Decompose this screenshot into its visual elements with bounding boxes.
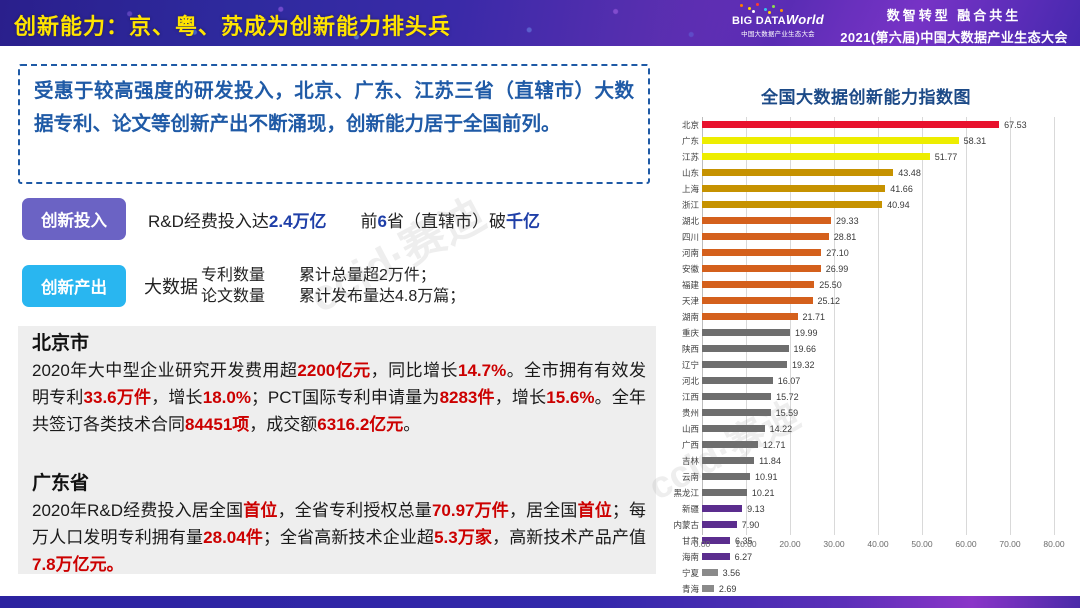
chart-bar bbox=[702, 377, 773, 384]
chart-bar-row: 重庆19.99 bbox=[666, 325, 1054, 341]
chart-x-axis-ticks: 0.0010.0020.0030.0040.0050.0060.0070.008… bbox=[702, 535, 1054, 557]
chart-bar-rows: 北京67.53广东58.31江苏51.77山东43.48上海41.66浙江40.… bbox=[666, 117, 1054, 535]
beijing-body: 2020年大中型企业研究开发费用超2200亿元，同比增长14.7%。全市拥有有效… bbox=[32, 357, 646, 438]
chart-bar bbox=[702, 169, 893, 176]
chart-bar-row: 广东58.31 bbox=[666, 133, 1054, 149]
chart-bar-row: 湖北29.33 bbox=[666, 213, 1054, 229]
badge-innovation-investment: 创新投入 bbox=[22, 198, 126, 240]
chart-bar bbox=[702, 297, 813, 304]
chart-bar bbox=[702, 441, 758, 448]
chart-bar-track: 29.33 bbox=[702, 213, 1054, 229]
chart-bar-value: 3.56 bbox=[723, 566, 741, 580]
callout-box: 受惠于较高强度的研发投入，北京、广东、江苏三省（直辖市）大数据专利、论文等创新产… bbox=[18, 64, 650, 184]
chart-category-label: 新疆 bbox=[666, 501, 702, 517]
chart-category-label: 内蒙古 bbox=[666, 517, 702, 533]
chart-bar-row: 江西15.72 bbox=[666, 389, 1054, 405]
conference-branding: 数智转型 融合共生 2021(第六届)中国大数据产业生态大会 bbox=[836, 5, 1072, 46]
chart-bar-row: 天津25.12 bbox=[666, 293, 1054, 309]
chart-bar bbox=[702, 265, 821, 272]
chart-bar-row: 山西14.22 bbox=[666, 421, 1054, 437]
chart-bar-track: 15.72 bbox=[702, 389, 1054, 405]
chart-bar bbox=[702, 569, 718, 576]
chart-bar-track: 67.53 bbox=[702, 117, 1054, 133]
chart-bar-value: 7.90 bbox=[742, 518, 760, 532]
chart-bar bbox=[702, 217, 831, 224]
chart-bar-track: 21.71 bbox=[702, 309, 1054, 325]
chart-x-tick-label: 70.00 bbox=[999, 539, 1020, 549]
chart-bar-track: 51.77 bbox=[702, 149, 1054, 165]
innovation-output-row: 创新产出 大数据 专利数量 论文数量 累计总量超2万件； 累计发布量达4.8万篇… bbox=[22, 265, 652, 307]
chart-bar bbox=[702, 281, 814, 288]
chart-bar-track: 25.50 bbox=[702, 277, 1054, 293]
chart-bar-track: 19.32 bbox=[702, 357, 1054, 373]
chart-bar bbox=[702, 121, 999, 128]
chart-bar bbox=[702, 393, 771, 400]
chart-category-label: 北京 bbox=[666, 117, 702, 133]
chart-category-label: 河北 bbox=[666, 373, 702, 389]
chart-bar bbox=[702, 185, 885, 192]
chart-bar-track: 15.59 bbox=[702, 405, 1054, 421]
chart-bar-track: 25.12 bbox=[702, 293, 1054, 309]
beijing-info-box: 北京市 2020年大中型企业研究开发费用超2200亿元，同比增长14.7%。全市… bbox=[18, 326, 656, 466]
chart-bar bbox=[702, 457, 754, 464]
paper-count-label: 论文数量 bbox=[201, 286, 265, 307]
chart-category-label: 山西 bbox=[666, 421, 702, 437]
bigdata-world-logo: BIG DATAWorld 中国大数据产业生态大会 bbox=[722, 3, 834, 38]
chart-x-tick-label: 50.00 bbox=[911, 539, 932, 549]
chart-bar-track: 11.84 bbox=[702, 453, 1054, 469]
chart-bar-row: 陕西19.66 bbox=[666, 341, 1054, 357]
chart-bar-value: 14.22 bbox=[770, 422, 793, 436]
innovation-investment-row: 创新投入 R&D经费投入达2.4万亿前6省（直辖市）破千亿 bbox=[22, 198, 652, 240]
chart-bar-value: 25.12 bbox=[818, 294, 841, 308]
chart-panel: 全国大数据创新能力指数图 北京67.53广东58.31江苏51.77山东43.4… bbox=[660, 78, 1072, 576]
chart-bar-value: 19.66 bbox=[794, 342, 817, 356]
slide: 创新能力：京、粤、苏成为创新能力排头兵 BIG DATAWorld 中国大数据产… bbox=[0, 0, 1080, 608]
logo-subtitle: 中国大数据产业生态大会 bbox=[722, 28, 834, 38]
chart-bar-row: 山东43.48 bbox=[666, 165, 1054, 181]
chart-bar-track: 12.71 bbox=[702, 437, 1054, 453]
chart-gridline bbox=[1054, 117, 1055, 535]
chart-bar bbox=[702, 137, 959, 144]
chart-bar-value: 15.59 bbox=[776, 406, 799, 420]
chart-category-label: 河南 bbox=[666, 245, 702, 261]
chart-bar-track: 7.90 bbox=[702, 517, 1054, 533]
chart-bar-track: 3.56 bbox=[702, 565, 1054, 581]
conference-slogan: 数智转型 融合共生 bbox=[836, 5, 1072, 24]
chart-bar-track: 58.31 bbox=[702, 133, 1054, 149]
chart-bar bbox=[702, 233, 829, 240]
paper-count-value: 累计发布量达4.8万篇； bbox=[299, 286, 465, 307]
chart-bar bbox=[702, 313, 798, 320]
chart-bar-row: 北京67.53 bbox=[666, 117, 1054, 133]
chart-bar-value: 43.48 bbox=[898, 166, 921, 180]
chart-bar-value: 67.53 bbox=[1004, 118, 1027, 132]
chart-bar bbox=[702, 585, 714, 592]
chart-bar-track: 16.07 bbox=[702, 373, 1054, 389]
chart-category-label: 广西 bbox=[666, 437, 702, 453]
chart-bar bbox=[702, 329, 790, 336]
chart-bar-row: 上海41.66 bbox=[666, 181, 1054, 197]
chart-bar bbox=[702, 249, 821, 256]
chart-bar bbox=[702, 425, 765, 432]
chart-bar-value: 26.99 bbox=[826, 262, 849, 276]
chart-x-tick-label: 40.00 bbox=[867, 539, 888, 549]
chart-bar-track: 10.21 bbox=[702, 485, 1054, 501]
chart-bar-row: 青海2.69 bbox=[666, 581, 1054, 597]
chart-category-label: 海南 bbox=[666, 549, 702, 565]
chart-bar-value: 10.91 bbox=[755, 470, 778, 484]
chart-bar-row: 河北16.07 bbox=[666, 373, 1054, 389]
chart-bar-value: 15.72 bbox=[776, 390, 799, 404]
chart-bar-value: 9.13 bbox=[747, 502, 765, 516]
chart-bar bbox=[702, 153, 930, 160]
chart-x-tick-label: 80.00 bbox=[1043, 539, 1064, 549]
chart-bar-track: 28.81 bbox=[702, 229, 1054, 245]
chart-bar-track: 14.22 bbox=[702, 421, 1054, 437]
chart-category-label: 广东 bbox=[666, 133, 702, 149]
chart-bar-row: 安徽26.99 bbox=[666, 261, 1054, 277]
chart-bar-row: 四川28.81 bbox=[666, 229, 1054, 245]
chart-bar bbox=[702, 345, 789, 352]
chart-bar bbox=[702, 489, 747, 496]
chart-bar-track: 9.13 bbox=[702, 501, 1054, 517]
chart-bar-value: 28.81 bbox=[834, 230, 857, 244]
chart-category-label: 浙江 bbox=[666, 197, 702, 213]
chart-bar-track: 19.66 bbox=[702, 341, 1054, 357]
chart-category-label: 湖南 bbox=[666, 309, 702, 325]
chart-bar-row: 贵州15.59 bbox=[666, 405, 1054, 421]
bigdata-label: 大数据 bbox=[144, 273, 198, 299]
chart-category-label: 陕西 bbox=[666, 341, 702, 357]
chart-bar-track: 26.99 bbox=[702, 261, 1054, 277]
chart-bar-value: 12.71 bbox=[763, 438, 786, 452]
chart-bar bbox=[702, 361, 787, 368]
beijing-title: 北京市 bbox=[32, 331, 646, 357]
chart-bar-track: 10.91 bbox=[702, 469, 1054, 485]
chart-bar bbox=[702, 201, 882, 208]
chart-bar-row: 新疆9.13 bbox=[666, 501, 1054, 517]
chart-plot-area: 北京67.53广东58.31江苏51.77山东43.48上海41.66浙江40.… bbox=[666, 117, 1064, 557]
chart-bar-value: 25.50 bbox=[819, 278, 842, 292]
chart-bar-row: 福建25.50 bbox=[666, 277, 1054, 293]
chart-x-tick-label: 60.00 bbox=[955, 539, 976, 549]
chart-bar-track: 41.66 bbox=[702, 181, 1054, 197]
chart-category-label: 青海 bbox=[666, 581, 702, 597]
chart-bar-row: 浙江40.94 bbox=[666, 197, 1054, 213]
chart-bar-track: 27.10 bbox=[702, 245, 1054, 261]
chart-category-label: 江西 bbox=[666, 389, 702, 405]
chart-bar bbox=[702, 521, 737, 528]
logo-bigdata-text: BIG DATAWorld bbox=[722, 14, 834, 27]
chart-category-label: 湖北 bbox=[666, 213, 702, 229]
chart-bar-track: 40.94 bbox=[702, 197, 1054, 213]
chart-bar-row: 吉林11.84 bbox=[666, 453, 1054, 469]
footer-bar bbox=[0, 596, 1080, 608]
badge-innovation-output: 创新产出 bbox=[22, 265, 126, 307]
chart-bar-track: 19.99 bbox=[702, 325, 1054, 341]
slide-header: 创新能力：京、粤、苏成为创新能力排头兵 BIG DATAWorld 中国大数据产… bbox=[0, 0, 1080, 46]
chart-bar-value: 10.21 bbox=[752, 486, 775, 500]
guangdong-info-box: 广东省 2020年R&D经费投入居全国首位，全省专利授权总量70.97万件，居全… bbox=[18, 466, 656, 574]
chart-x-tick-label: 30.00 bbox=[823, 539, 844, 549]
chart-bar-row: 内蒙古7.90 bbox=[666, 517, 1054, 533]
chart-x-tick-label: 0.00 bbox=[694, 539, 711, 549]
innovation-investment-text: R&D经费投入达2.4万亿前6省（直辖市）破千亿 bbox=[148, 207, 540, 232]
chart-category-label: 黑龙江 bbox=[666, 485, 702, 501]
output-metric-values: 累计总量超2万件； 累计发布量达4.8万篇； bbox=[299, 265, 465, 307]
chart-bar-row: 辽宁19.32 bbox=[666, 357, 1054, 373]
chart-bar-value: 19.99 bbox=[795, 326, 818, 340]
chart-bar-value: 41.66 bbox=[890, 182, 913, 196]
chart-category-label: 江苏 bbox=[666, 149, 702, 165]
chart-bar-row: 江苏51.77 bbox=[666, 149, 1054, 165]
chart-category-label: 宁夏 bbox=[666, 565, 702, 581]
guangdong-body: 2020年R&D经费投入居全国首位，全省专利授权总量70.97万件，居全国首位；… bbox=[32, 497, 646, 578]
chart-category-label: 云南 bbox=[666, 469, 702, 485]
chart-bar-value: 29.33 bbox=[836, 214, 859, 228]
guangdong-title: 广东省 bbox=[32, 471, 646, 497]
callout-text: 受惠于较高强度的研发投入，北京、广东、江苏三省（直辖市）大数据专利、论文等创新产… bbox=[34, 75, 634, 141]
chart-bar-row: 宁夏3.56 bbox=[666, 565, 1054, 581]
chart-bar-value: 40.94 bbox=[887, 198, 910, 212]
chart-bar bbox=[702, 505, 742, 512]
chart-bar bbox=[702, 409, 771, 416]
chart-category-label: 安徽 bbox=[666, 261, 702, 277]
chart-bar-track: 43.48 bbox=[702, 165, 1054, 181]
patent-count-value: 累计总量超2万件； bbox=[299, 265, 465, 286]
page-title: 创新能力：京、粤、苏成为创新能力排头兵 bbox=[14, 9, 451, 41]
chart-bar-value: 11.84 bbox=[759, 454, 781, 468]
chart-x-tick-label: 20.00 bbox=[779, 539, 800, 549]
chart-category-label: 四川 bbox=[666, 229, 702, 245]
output-metric-labels: 专利数量 论文数量 bbox=[201, 265, 265, 307]
chart-bar-row: 河南27.10 bbox=[666, 245, 1054, 261]
chart-bar-value: 58.31 bbox=[964, 134, 987, 148]
chart-category-label: 上海 bbox=[666, 181, 702, 197]
chart-category-label: 辽宁 bbox=[666, 357, 702, 373]
chart-bar-value: 19.32 bbox=[792, 358, 815, 372]
chart-bar-row: 黑龙江10.21 bbox=[666, 485, 1054, 501]
chart-bar-row: 广西12.71 bbox=[666, 437, 1054, 453]
chart-bar-value: 27.10 bbox=[826, 246, 849, 260]
chart-bar-value: 21.71 bbox=[803, 310, 826, 324]
chart-category-label: 贵州 bbox=[666, 405, 702, 421]
patent-count-label: 专利数量 bbox=[201, 265, 265, 286]
chart-x-tick-label: 10.00 bbox=[735, 539, 756, 549]
chart-category-label: 吉林 bbox=[666, 453, 702, 469]
chart-title: 全国大数据创新能力指数图 bbox=[660, 78, 1072, 108]
chart-bar-value: 16.07 bbox=[778, 374, 801, 388]
conference-name: 2021(第六届)中国大数据产业生态大会 bbox=[836, 27, 1072, 46]
logo-dots-icon bbox=[722, 3, 834, 14]
chart-bar-row: 湖南21.71 bbox=[666, 309, 1054, 325]
chart-category-label: 山东 bbox=[666, 165, 702, 181]
chart-bar-row: 云南10.91 bbox=[666, 469, 1054, 485]
chart-category-label: 福建 bbox=[666, 277, 702, 293]
chart-category-label: 重庆 bbox=[666, 325, 702, 341]
chart-bar bbox=[702, 473, 750, 480]
chart-category-label: 天津 bbox=[666, 293, 702, 309]
chart-bar-value: 2.69 bbox=[719, 582, 737, 596]
chart-bar-track: 2.69 bbox=[702, 581, 1054, 597]
chart-bar-value: 51.77 bbox=[935, 150, 958, 164]
